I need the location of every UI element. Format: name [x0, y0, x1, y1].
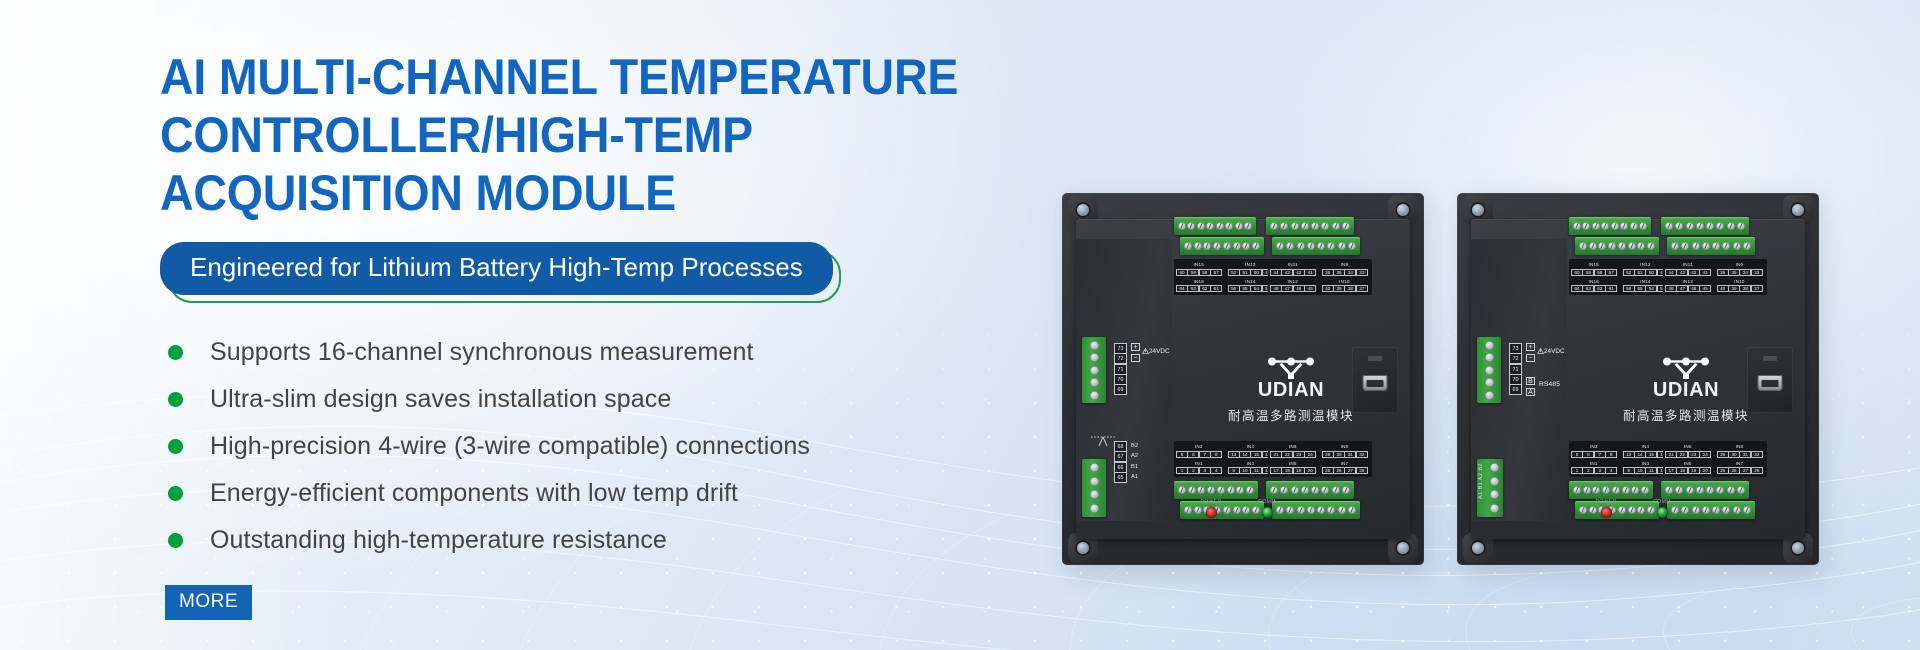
- terminal-pin: 54: [1645, 285, 1657, 292]
- terminal-screw-icon: [1291, 222, 1299, 230]
- edge-connector-top: [1477, 337, 1501, 403]
- terminal-group-label: IN9: [1717, 262, 1763, 268]
- terminal-screw-icon: [1573, 222, 1581, 230]
- terminal-pin: 44: [1270, 269, 1282, 276]
- terminal-screw-icon: [1485, 366, 1494, 375]
- terminal-screw-icon: [1602, 486, 1610, 494]
- terminal-group-label: IN11: [1270, 262, 1316, 268]
- terminal-group: IN8 29 30 31 32: [1322, 444, 1368, 458]
- terminal-screw-icon: [1716, 222, 1724, 230]
- usb-label-icon: [1368, 356, 1382, 361]
- terminal-screw-icon: [1236, 486, 1244, 494]
- terminal-group-label: IN13: [1623, 262, 1669, 268]
- terminal-map-top-left: IN15 60 59 58 57 IN13: [1569, 259, 1673, 295]
- terminal-screw-icon: [1227, 486, 1235, 494]
- terminal-block-top-right-row1: [1266, 217, 1354, 235]
- terminal-screw-icon: [1342, 222, 1350, 230]
- terminal-screw-icon: [1178, 486, 1186, 494]
- terminal-block-top-left-row2: [1180, 237, 1264, 255]
- comm-led-icon: [1262, 507, 1273, 518]
- terminal-block-top-left-row1: [1174, 217, 1256, 235]
- terminal-pin: 60: [1571, 269, 1583, 276]
- terminal-screw-icon: [1217, 486, 1225, 494]
- terminal-screw-icon: [1630, 222, 1638, 230]
- terminal-group: IN8 29 30 31 32: [1717, 444, 1763, 458]
- terminal-pin: 10: [1634, 467, 1646, 474]
- terminal-pin: 57: [1210, 269, 1222, 276]
- feature-label: Ultra-slim design saves installation spa…: [210, 385, 671, 414]
- status-badge: COMM: [1639, 499, 1685, 518]
- terminal-pin: 20: [1699, 467, 1711, 474]
- terminal-group: IN16 64 63 62 61: [1176, 279, 1222, 293]
- terminal-screw-icon: [1675, 222, 1683, 230]
- terminal-pin: 59: [1187, 269, 1199, 276]
- usb-connector-icon: [1363, 375, 1388, 391]
- usb-port-housing: [1747, 347, 1793, 413]
- terminal-group: IN9 36 35 34 33: [1717, 262, 1763, 276]
- terminal-pin: 41: [1304, 269, 1316, 276]
- terminal-screw-icon: [1696, 486, 1704, 494]
- terminal-group-label: IN10: [1322, 279, 1368, 285]
- terminal-screw-icon: [1286, 242, 1294, 250]
- terminal-pin: 39: [1728, 285, 1740, 292]
- terminal-screw-icon: [1620, 222, 1628, 230]
- terminal-pin: 45: [1699, 285, 1711, 292]
- terminal-screw-icon: [1216, 222, 1224, 230]
- terminal-pin: 36: [1717, 269, 1729, 276]
- terminal-screw-icon: [1276, 242, 1284, 250]
- power-led-icon: [1206, 507, 1217, 518]
- yudian-logo-icon: [1262, 357, 1320, 379]
- content-column: AI MULTI-CHANNEL TEMPERATURE CONTROLLER/…: [0, 0, 1040, 650]
- terminal-pin: 21: [1665, 451, 1677, 458]
- terminal-group-label: IN12: [1665, 279, 1711, 285]
- terminal-block-bottom-left-row1: [1174, 481, 1258, 499]
- terminal-screw-icon: [1270, 486, 1278, 494]
- terminal-screw-icon: [1342, 486, 1350, 494]
- usb-port-housing: [1352, 347, 1398, 413]
- terminal-group-label: IN16: [1571, 279, 1617, 285]
- terminal-pin: 63: [1582, 285, 1594, 292]
- terminal-screw-icon: [1301, 486, 1309, 494]
- terminal-pin: 13: [1623, 451, 1635, 458]
- terminal-screw-icon: [1090, 391, 1099, 400]
- terminal-pin: 8: [1605, 451, 1617, 458]
- terminal-screw-icon: [1573, 486, 1581, 494]
- terminal-pin: 5: [1176, 451, 1188, 458]
- terminal-screw-icon: [1235, 222, 1243, 230]
- terminal-screw-icon: [1332, 222, 1340, 230]
- terminal-screw-icon: [1727, 486, 1735, 494]
- terminal-screw-icon: [1712, 506, 1720, 514]
- terminal-group-label: IN7: [1322, 461, 1368, 467]
- terminal-group-label: IN5: [1665, 461, 1711, 467]
- rs485-a-box: A: [1526, 388, 1535, 396]
- terminal-pin: 57: [1605, 269, 1617, 276]
- terminal-screw-icon: [1737, 486, 1745, 494]
- terminal-screw-icon: [1090, 477, 1099, 486]
- terminal-group-label: IN5: [1270, 461, 1316, 467]
- subtitle-badge: Engineered for Lithium Battery High-Temp…: [160, 242, 833, 295]
- terminal-pin: 28: [1751, 467, 1763, 474]
- headline-line-1: AI MULTI-CHANNEL TEMPERATURE: [160, 49, 958, 105]
- terminal-map-bottom-left: IN2 5 6 7 8 IN4: [1174, 441, 1278, 477]
- terminal-screw-icon: [1681, 242, 1689, 250]
- terminal-group: IN1 1 2 3 4: [1176, 461, 1222, 475]
- terminal-screw-icon: [1583, 486, 1591, 494]
- terminal-pin: 29: [1322, 451, 1334, 458]
- terminal-screw-icon: [1291, 486, 1299, 494]
- terminal-screw-icon: [1733, 242, 1741, 250]
- terminal-block-top-right-row2: [1272, 237, 1360, 255]
- terminal-group: IN2 5 6 7 8: [1571, 444, 1617, 458]
- bullet-dot-icon: [168, 439, 183, 454]
- terminal-map-bottom-left: IN2 5 6 7 8 IN4: [1569, 441, 1673, 477]
- edge-connector-top: [1082, 337, 1106, 403]
- terminal-screw-icon: [1622, 486, 1630, 494]
- terminal-pin: 46: [1688, 285, 1700, 292]
- warning-triangle-icon: [1537, 348, 1544, 354]
- comm-terminal-labels: B2 A2 B1 A1: [1129, 441, 1138, 483]
- usb-label-icon: [1763, 356, 1777, 361]
- terminal-screw-icon: [1592, 486, 1600, 494]
- power-terminal-ladder: 73 72 71 70 69 + − 24VDC B: [1509, 343, 1522, 395]
- terminal-screw-icon: [1090, 366, 1099, 375]
- terminal-screw-icon: [1743, 506, 1751, 514]
- terminal-pin: 48: [1665, 285, 1677, 292]
- terminal-screw-icon: [1297, 242, 1305, 250]
- terminal-screw-icon: [1207, 486, 1215, 494]
- terminal-screw-icon: [1592, 222, 1600, 230]
- terminal-pin: 27: [1344, 467, 1356, 474]
- terminal-map-top-right: IN11 44 43 42 41 IN9: [1663, 259, 1767, 295]
- power-terminal-ladder: 73 72 71 70 69 + − 24VDC: [1114, 343, 1127, 395]
- more-button[interactable]: MORE: [165, 585, 252, 620]
- terminal-screw-icon: [1206, 222, 1214, 230]
- terminal-group: IN2 5 6 7 8: [1176, 444, 1222, 458]
- terminal-pin: 7: [1199, 451, 1211, 458]
- voltage-text: 24VDC: [1149, 348, 1170, 355]
- terminal-pin: 47: [1281, 285, 1293, 292]
- bullet-dot-icon: [168, 345, 183, 360]
- terminal-pin: 44: [1665, 269, 1677, 276]
- terminal-screw-icon: [1197, 486, 1205, 494]
- terminal-screw-icon: [1702, 242, 1710, 250]
- terminal-group: IN10 40 39 38 37: [1322, 279, 1368, 293]
- terminal-label: B2: [1129, 441, 1138, 451]
- terminal-pin: 48: [1270, 285, 1282, 292]
- terminal-pin: 34: [1739, 269, 1751, 276]
- terminal-group: IN11 44 43 42 41: [1270, 262, 1316, 276]
- terminal-screw-icon: [1675, 486, 1683, 494]
- terminal-screw-icon: [1338, 506, 1346, 514]
- terminal-pin: 63: [1187, 285, 1199, 292]
- terminal-pin: 24: [1699, 451, 1711, 458]
- terminal-screw-icon: [1311, 222, 1319, 230]
- terminal-pin: 51: [1239, 269, 1251, 276]
- terminal-group-label: IN14: [1623, 279, 1669, 285]
- terminal-group-label: IN7: [1717, 461, 1763, 467]
- status-badge: POWER: [1583, 499, 1629, 518]
- terminal-screw-icon: [1722, 242, 1730, 250]
- terminal-pin: 4: [1605, 467, 1617, 474]
- terminal-group: IN3 9 10 11 12: [1228, 461, 1274, 475]
- terminal-group-label: IN2: [1176, 444, 1222, 450]
- terminal-group-label: IN8: [1717, 444, 1763, 450]
- terminal-pin: 62: [1199, 285, 1211, 292]
- terminal-label: A1: [1129, 472, 1138, 482]
- terminal-group: IN9 36 35 34 33: [1322, 262, 1368, 276]
- terminal-screw-icon: [1332, 486, 1340, 494]
- terminal-screw-icon: [1252, 242, 1260, 250]
- terminal-screw-icon: [1187, 222, 1195, 230]
- terminal-pin: 38: [1344, 285, 1356, 292]
- terminal-block-bottom-left-row1: [1569, 481, 1653, 499]
- terminal-screw-icon: [1665, 486, 1673, 494]
- terminal-screw-icon: [1223, 242, 1231, 250]
- status-led-area: POWER COMM: [1188, 499, 1306, 525]
- terminal-pin: 50: [1250, 269, 1262, 276]
- terminal-pin: 14: [1239, 451, 1251, 458]
- terminal-group-label: IN9: [1322, 262, 1368, 268]
- terminal-pin: 30: [1728, 451, 1740, 458]
- device-chassis: IN15 60 59 58 57 IN13: [1457, 193, 1819, 565]
- terminal-pin: 64: [1571, 285, 1583, 292]
- terminal-pin: 37: [1356, 285, 1368, 292]
- led-label: POWER: [1188, 499, 1234, 506]
- terminal-pin: 64: [1176, 285, 1188, 292]
- terminal-screw-icon: [1338, 242, 1346, 250]
- headline-line-2: CONTROLLER/HIGH-TEMP ACQUISITION MODULE: [160, 106, 978, 222]
- terminal-screw-icon: [1490, 490, 1499, 499]
- terminal-group: IN6 21 22 23 24: [1665, 444, 1711, 458]
- terminal-screw-icon: [1327, 242, 1335, 250]
- power-led-icon: [1601, 507, 1612, 518]
- terminal-pin: 37: [1751, 285, 1763, 292]
- terminal-screw-icon: [1485, 353, 1494, 362]
- terminal-group-label: IN8: [1322, 444, 1368, 450]
- power-voltage-label: 24VDC: [1142, 347, 1170, 356]
- terminal-pin: 31: [1739, 451, 1751, 458]
- terminal-pin: 61: [1210, 285, 1222, 292]
- terminal-group-label: IN15: [1571, 262, 1617, 268]
- terminal-group: IN14 56 55 54 53: [1228, 279, 1274, 293]
- terminal-group-label: IN15: [1176, 262, 1222, 268]
- terminal-screw-icon: [1637, 242, 1645, 250]
- terminal-pin: 22: [1281, 451, 1293, 458]
- terminal-group: IN5 17 18 19 20: [1665, 461, 1711, 475]
- terminal-screw-icon: [1194, 242, 1202, 250]
- terminal-pin: 32: [1356, 451, 1368, 458]
- terminal-pin: 21: [1270, 451, 1282, 458]
- terminal-pin: 69: [1114, 384, 1127, 395]
- terminal-screw-icon: [1225, 222, 1233, 230]
- terminal-screw-icon: [1317, 242, 1325, 250]
- status-led-area: POWER COMM: [1583, 499, 1701, 525]
- terminal-pin: 33: [1751, 269, 1763, 276]
- terminal-screw-icon: [1743, 242, 1751, 250]
- terminal-screw-icon: [1727, 222, 1735, 230]
- terminal-group: IN14 56 55 54 53: [1623, 279, 1669, 293]
- terminal-pin: 65: [1114, 472, 1127, 483]
- terminal-pin: 55: [1239, 285, 1251, 292]
- terminal-pin: 6: [1187, 451, 1199, 458]
- terminal-screw-icon: [1317, 506, 1325, 514]
- terminal-screw-icon: [1582, 222, 1590, 230]
- terminal-screw-icon: [1601, 222, 1609, 230]
- terminal-pin: 34: [1344, 269, 1356, 276]
- product-device-second: IN15 60 59 58 57 IN13: [1445, 185, 1841, 585]
- terminal-screw-icon: [1233, 242, 1241, 250]
- terminal-group-label: IN6: [1270, 444, 1316, 450]
- edge-connector-bottom: A1 B1 A2 B2: [1477, 459, 1503, 517]
- led-label: COMM: [1244, 499, 1290, 506]
- terminal-group: IN7 25 26 27 28: [1322, 461, 1368, 475]
- terminal-pin: 8: [1210, 451, 1222, 458]
- terminal-screw-icon: [1696, 222, 1704, 230]
- terminal-pin: 43: [1676, 269, 1688, 276]
- product-device-front: IN15 60 59 58 57 IN13: [1050, 185, 1446, 585]
- terminal-screw-icon: [1301, 222, 1309, 230]
- terminal-group: IN10 40 39 38 37: [1717, 279, 1763, 293]
- terminal-screw-icon: [1090, 463, 1099, 472]
- terminal-group: IN1 1 2 3 4: [1571, 461, 1617, 475]
- terminal-screw-icon: [1244, 222, 1252, 230]
- list-item: Energy-efficient components with low tem…: [160, 470, 1040, 517]
- terminal-screw-icon: [1090, 504, 1099, 513]
- terminal-group: IN15 60 59 58 57: [1176, 262, 1222, 276]
- terminal-group-label: IN2: [1571, 444, 1617, 450]
- terminal-pin: 23: [1688, 451, 1700, 458]
- terminal-screw-icon: [1722, 506, 1730, 514]
- terminal-pin: 25: [1322, 467, 1334, 474]
- terminal-group: IN3 9 10 11 12: [1623, 461, 1669, 475]
- terminal-pin: 51: [1634, 269, 1646, 276]
- terminal-pin: 45: [1304, 285, 1316, 292]
- terminal-pin: 14: [1634, 451, 1646, 458]
- edge-connector-bottom: [1082, 459, 1106, 517]
- terminal-screw-icon: [1280, 486, 1288, 494]
- terminal-group-label: IN12: [1270, 279, 1316, 285]
- terminal-pin: 41: [1699, 269, 1711, 276]
- terminal-map-top-right: IN11 44 43 42 41 IN9: [1268, 259, 1372, 295]
- terminal-screw-icon: [1485, 378, 1494, 387]
- terminal-group: IN7 25 26 27 28: [1717, 461, 1763, 475]
- terminal-pin: 69: [1509, 384, 1522, 395]
- terminal-pin: 62: [1594, 285, 1606, 292]
- power-plus-box: +: [1131, 343, 1140, 351]
- page-title: AI MULTI-CHANNEL TEMPERATURE CONTROLLER/…: [160, 48, 978, 222]
- list-item: Outstanding high-temperature resistance: [160, 517, 1040, 564]
- terminal-group-label: IN14: [1228, 279, 1274, 285]
- terminal-pin: 59: [1582, 269, 1594, 276]
- terminal-pin: 29: [1717, 451, 1729, 458]
- terminal-pin: 42: [1688, 269, 1700, 276]
- terminal-screw-icon: [1579, 242, 1587, 250]
- terminal-pin: 47: [1676, 285, 1688, 292]
- terminal-group-label: IN11: [1665, 262, 1711, 268]
- terminal-screw-icon: [1242, 242, 1250, 250]
- terminal-screw-icon: [1197, 222, 1205, 230]
- terminal-screw-icon: [1485, 391, 1494, 400]
- terminal-pin: 22: [1676, 451, 1688, 458]
- terminal-pin: 52: [1623, 269, 1635, 276]
- terminal-screw-icon: [1203, 242, 1211, 250]
- promo-banner-root: AI MULTI-CHANNEL TEMPERATURE CONTROLLER/…: [0, 0, 1920, 650]
- terminal-screw-icon: [1671, 242, 1679, 250]
- terminal-pin: 61: [1605, 285, 1617, 292]
- terminal-pin: 2: [1582, 467, 1594, 474]
- terminal-pin: 1: [1571, 467, 1583, 474]
- comm-terminal-ladder: 68 67 66 65 B2 A2 B1 A1: [1114, 441, 1127, 482]
- terminal-group: IN12 48 47 46 45: [1270, 279, 1316, 293]
- terminal-screw-icon: [1327, 506, 1335, 514]
- terminal-group: IN13 52 51 50 49: [1623, 262, 1669, 276]
- rs485-label: RS485: [1539, 381, 1560, 388]
- terminal-screw-icon: [1090, 490, 1099, 499]
- terminal-pin: 3: [1199, 467, 1211, 474]
- terminal-screw-icon: [1246, 486, 1254, 494]
- terminal-block-bottom-right-row1: [1266, 481, 1354, 499]
- terminal-screw-icon: [1628, 242, 1636, 250]
- terminal-pin: 15: [1645, 451, 1657, 458]
- terminal-pin: 18: [1281, 467, 1293, 474]
- terminal-pin: 7: [1594, 451, 1606, 458]
- terminal-pin: 56: [1623, 285, 1635, 292]
- terminal-screw-icon: [1641, 486, 1649, 494]
- terminal-screw-icon: [1280, 222, 1288, 230]
- terminal-group-label: IN1: [1176, 461, 1222, 467]
- terminal-pin: 33: [1356, 269, 1368, 276]
- power-plus-box: +: [1526, 343, 1535, 351]
- terminal-screw-icon: [1686, 222, 1694, 230]
- terminal-pin: 24: [1304, 451, 1316, 458]
- terminal-screw-icon: [1692, 242, 1700, 250]
- power-minus-box: −: [1131, 354, 1140, 362]
- terminal-screw-icon: [1631, 486, 1639, 494]
- terminal-group-label: IN4: [1623, 444, 1669, 450]
- terminal-screw-icon: [1712, 242, 1720, 250]
- terminal-screw-icon: [1184, 242, 1192, 250]
- terminal-pin: 10: [1239, 467, 1251, 474]
- terminal-pin: 18: [1676, 467, 1688, 474]
- status-badge: POWER: [1188, 499, 1234, 518]
- terminal-pin: 58: [1594, 269, 1606, 276]
- terminal-screw-icon: [1686, 486, 1694, 494]
- terminal-pin: 46: [1293, 285, 1305, 292]
- terminal-block-top-left-row1: [1569, 217, 1651, 235]
- terminal-pin: 54: [1250, 285, 1262, 292]
- terminal-screw-icon: [1090, 341, 1099, 350]
- feature-label: Supports 16-channel synchronous measurem…: [210, 338, 754, 367]
- terminal-group-label: IN13: [1228, 262, 1274, 268]
- terminal-pin: 40: [1322, 285, 1334, 292]
- terminal-screw-icon: [1737, 222, 1745, 230]
- terminal-screw-icon: [1090, 378, 1099, 387]
- subtitle-banner-wrap: Engineered for Lithium Battery High-Temp…: [160, 242, 833, 295]
- terminal-group-label: IN3: [1228, 461, 1274, 467]
- terminal-group: IN4 13 14 15 16: [1228, 444, 1274, 458]
- terminal-screw-icon: [1321, 222, 1329, 230]
- terminal-screw-icon: [1348, 506, 1356, 514]
- terminal-screw-icon: [1178, 222, 1186, 230]
- list-item: Ultra-slim design saves installation spa…: [160, 376, 1040, 423]
- terminal-screw-icon: [1702, 506, 1710, 514]
- terminal-pin: 35: [1333, 269, 1345, 276]
- terminal-screw-icon: [1270, 222, 1278, 230]
- product-image-group: IN15 60 59 58 57 IN13: [1040, 185, 1920, 615]
- status-badge: COMM: [1244, 499, 1290, 518]
